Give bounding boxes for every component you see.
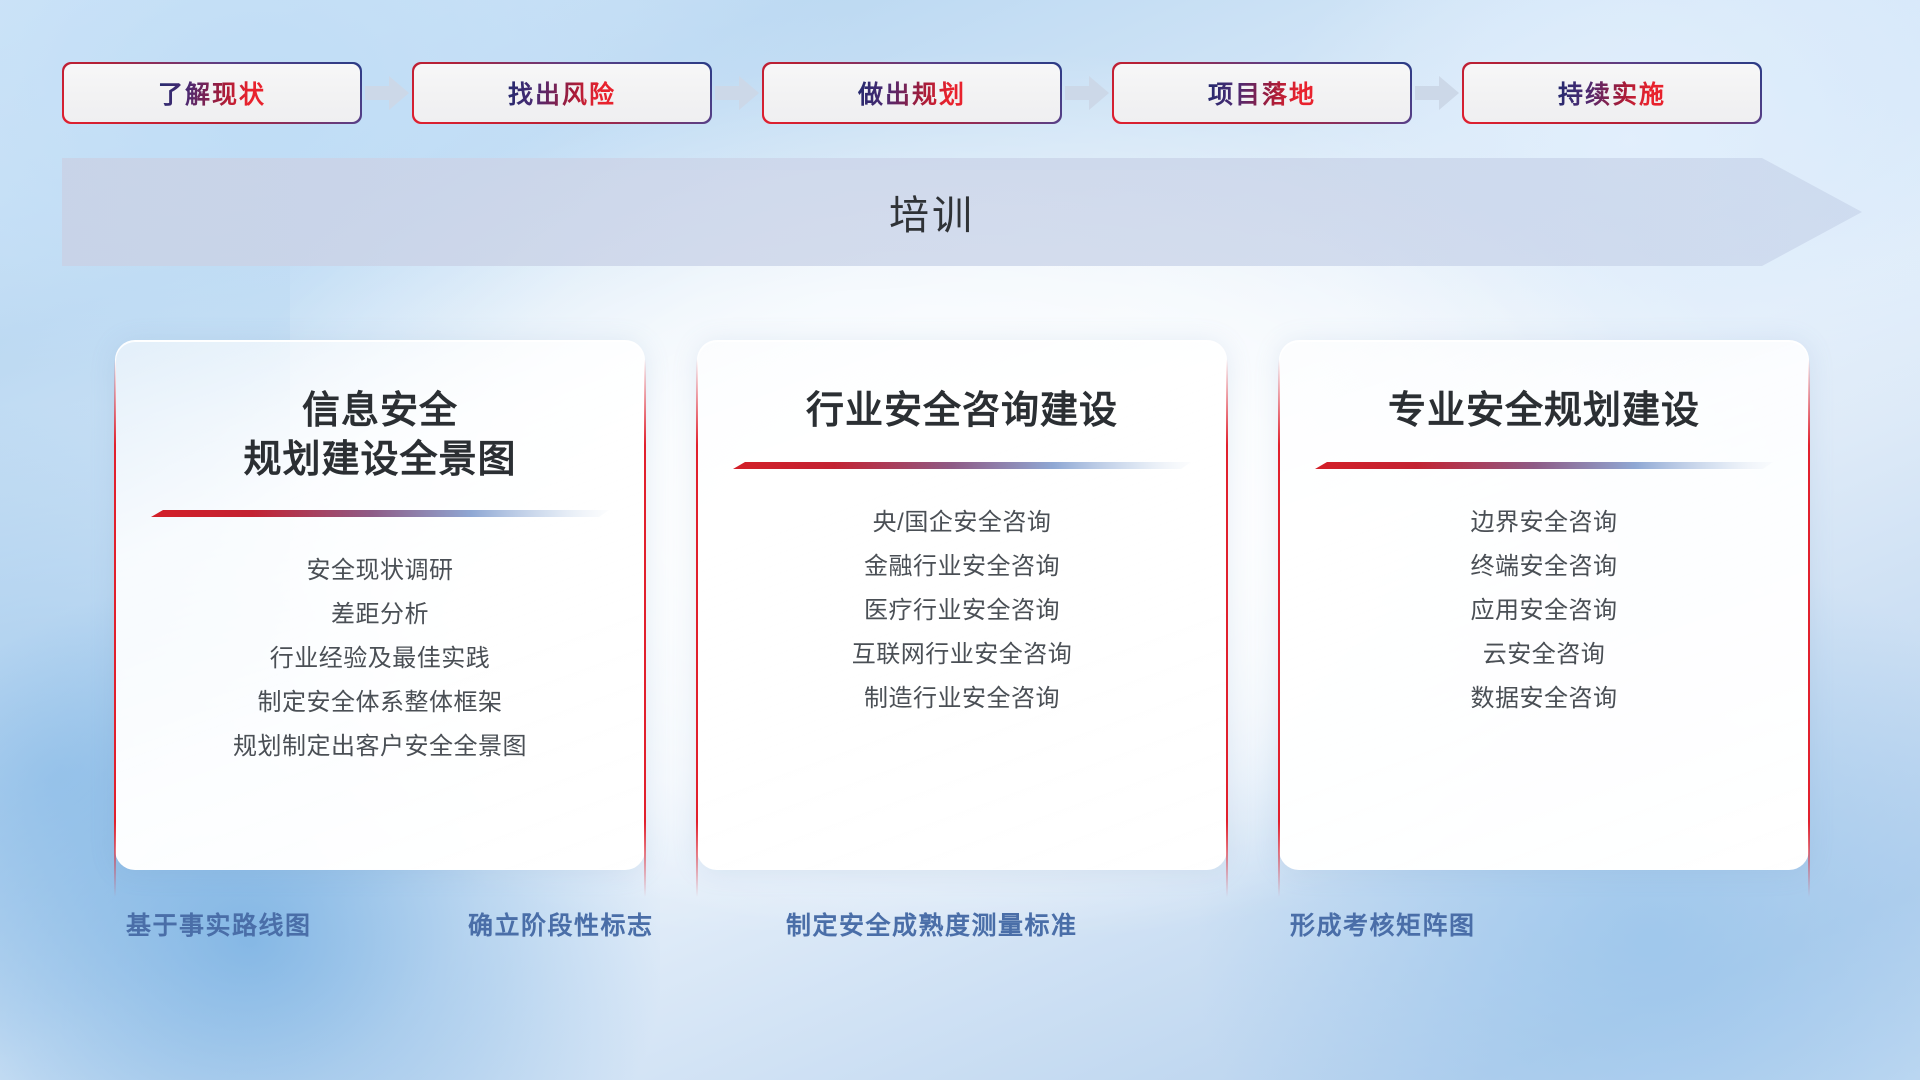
list-item: 云安全咨询 [1296, 633, 1792, 677]
list-item: 互联网行业安全咨询 [714, 633, 1210, 677]
list-item: 金融行业安全咨询 [714, 545, 1210, 589]
arrow-right-icon [1062, 73, 1112, 113]
list-item: 差距分析 [132, 593, 628, 637]
card-industry-security-consulting[interactable]: 行业安全咨询建设 [697, 340, 1227, 870]
list-item: 医疗行业安全咨询 [714, 589, 1210, 633]
list-item: 应用安全咨询 [1296, 589, 1792, 633]
step-box-3-inner: 做出规划 [764, 64, 1061, 123]
list-item: 数据安全咨询 [1296, 677, 1792, 721]
list-item: 终端安全咨询 [1296, 545, 1792, 589]
card-item-list: 安全现状调研 差距分析 行业经验及最佳实践 制定安全体系整体框架 规划制定出客户… [116, 549, 644, 769]
card-title: 信息安全 规划建设全景图 [116, 387, 644, 484]
process-step-row: 了解现状 找出风险 做出规划 [62, 62, 1862, 124]
step-box-4-label: 项目落地 [1208, 75, 1316, 111]
card-item-list: 央/国企安全咨询 金融行业安全咨询 医疗行业安全咨询 互联网行业安全咨询 制造行… [698, 501, 1226, 721]
bottom-label-1: 基于事实路线图 [126, 906, 312, 942]
arrow-right-icon [1412, 73, 1462, 113]
step-box-5-inner: 持续实施 [1464, 64, 1761, 123]
card-professional-security-planning[interactable]: 专业安全规划建设 [1279, 340, 1809, 870]
card-title-line: 规划建设全景图 [134, 436, 626, 485]
training-band-label: 培训 [62, 158, 1802, 266]
step-box-5[interactable]: 持续实施 [1462, 62, 1762, 124]
list-item: 制定安全体系整体框架 [132, 681, 628, 725]
list-item: 央/国企安全咨询 [714, 501, 1210, 545]
bottom-label-3: 制定安全成熟度测量标准 [786, 906, 1078, 942]
step-box-2-label: 找出风险 [508, 75, 616, 111]
arrow-right-icon [712, 73, 762, 113]
step-box-3[interactable]: 做出规划 [762, 62, 1062, 124]
training-band: 培训 [62, 158, 1862, 266]
card-divider [733, 462, 1191, 469]
card-title: 专业安全规划建设 [1280, 387, 1808, 436]
bottom-label-row: 基于事实路线图 确立阶段性标志 制定安全成熟度测量标准 形成考核矩阵图 [0, 906, 1920, 954]
step-box-1-label: 了解现状 [158, 75, 266, 111]
list-item: 规划制定出客户安全全景图 [132, 725, 628, 769]
list-item: 边界安全咨询 [1296, 501, 1792, 545]
card-item-list: 边界安全咨询 终端安全咨询 应用安全咨询 云安全咨询 数据安全咨询 [1280, 501, 1808, 721]
list-item: 制造行业安全咨询 [714, 677, 1210, 721]
step-box-4-inner: 项目落地 [1114, 64, 1411, 123]
step-box-3-label: 做出规划 [858, 75, 966, 111]
card-title-line: 行业安全咨询建设 [716, 387, 1208, 436]
step-box-5-label: 持续实施 [1558, 75, 1666, 111]
card-row: 信息安全 规划建设全景图 [0, 334, 1920, 879]
list-item: 安全现状调研 [132, 549, 628, 593]
card-divider [1315, 462, 1773, 469]
card-title-line: 专业安全规划建设 [1298, 387, 1790, 436]
list-item: 行业经验及最佳实践 [132, 637, 628, 681]
step-box-2[interactable]: 找出风险 [412, 62, 712, 124]
arrow-right-icon [362, 73, 412, 113]
card-title-line: 信息安全 [134, 387, 626, 436]
step-box-1-inner: 了解现状 [64, 64, 361, 123]
bottom-label-2: 确立阶段性标志 [468, 906, 654, 942]
card-information-security-blueprint[interactable]: 信息安全 规划建设全景图 [115, 340, 645, 870]
bottom-label-4: 形成考核矩阵图 [1290, 906, 1476, 942]
step-box-2-inner: 找出风险 [414, 64, 711, 123]
card-divider [151, 510, 609, 517]
step-box-1[interactable]: 了解现状 [62, 62, 362, 124]
card-title: 行业安全咨询建设 [698, 387, 1226, 436]
slide-canvas: 了解现状 找出风险 做出规划 [0, 0, 1920, 1080]
step-box-4[interactable]: 项目落地 [1112, 62, 1412, 124]
